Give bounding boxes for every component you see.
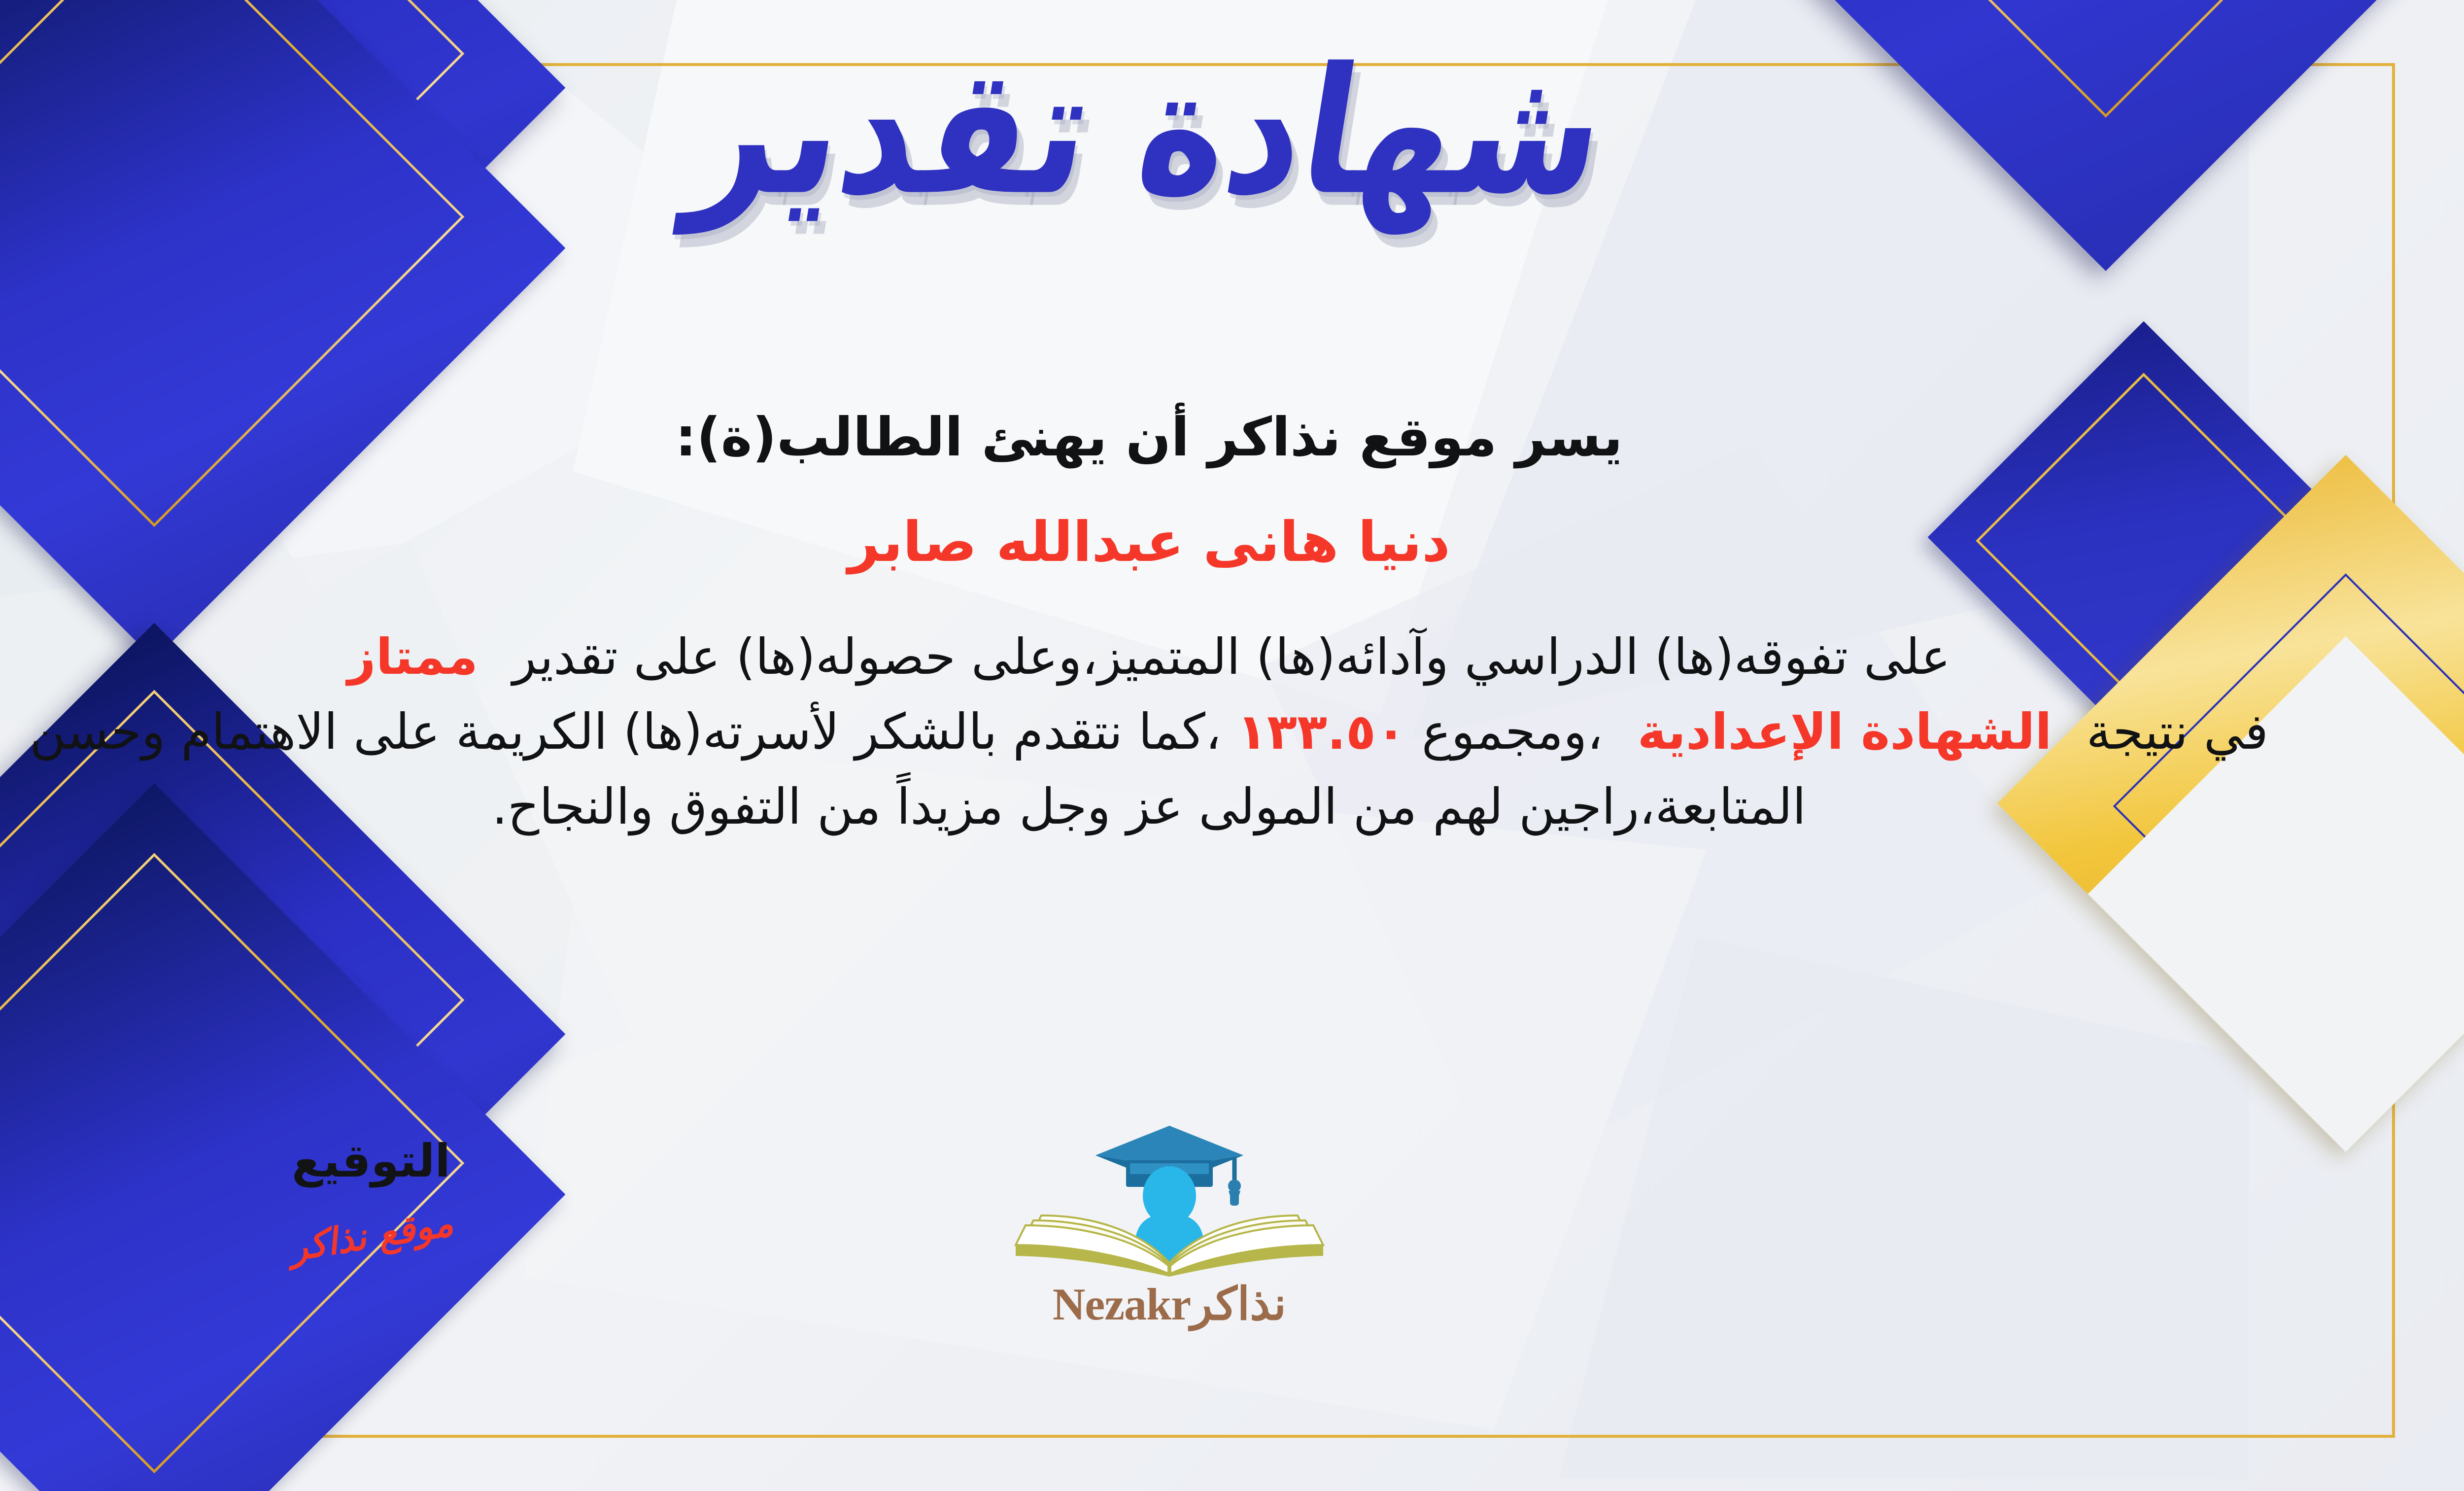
certificate-title-text: شهادة تقدير (681, 40, 1617, 224)
intro-line: يسر موقع نذاكر أن يهنئ الطالب(ة): (0, 404, 2365, 471)
grade-value: ممتاز (347, 628, 478, 686)
achievement-segment-1: على تفوقه(ها) الدراسي وآدائه(ها) المتميز… (513, 628, 1951, 686)
logo-wordmark-ar: نذاكر (1191, 1279, 1286, 1329)
exam-name: الشهادة الإعدادية (1638, 703, 2052, 761)
graduate-book-logo-icon (982, 1114, 1357, 1277)
signature-script: موقع نذاكر (286, 1202, 456, 1269)
certificate-canvas: شهادة تقدير يسر موقع نذاكر أن يهنئ الطال… (0, 0, 2464, 1491)
total-score: ١٣٣.٥٠ (1237, 703, 1406, 761)
site-logo: نذاكرNezakr (982, 1114, 1357, 1327)
student-name: دنيا هانى عبدالله صابر (0, 509, 2365, 575)
achievement-segment-2: في نتيجة (2087, 703, 2268, 761)
logo-wordmark: نذاكرNezakr (982, 1282, 1357, 1327)
certificate-title: شهادة تقدير (0, 54, 2464, 209)
certificate-body: يسر موقع نذاكر أن يهنئ الطالب(ة): دنيا ه… (0, 404, 2365, 844)
logo-wordmark-latin: Nezakr (1053, 1282, 1191, 1327)
signature-label: التوقيع (218, 1139, 524, 1184)
signature-block: التوقيع موقع نذاكر (218, 1139, 524, 1257)
achievement-segment-3: ،ومجموع (1422, 703, 1603, 761)
achievement-paragraph: على تفوقه(ها) الدراسي وآدائه(ها) المتميز… (0, 620, 2365, 844)
